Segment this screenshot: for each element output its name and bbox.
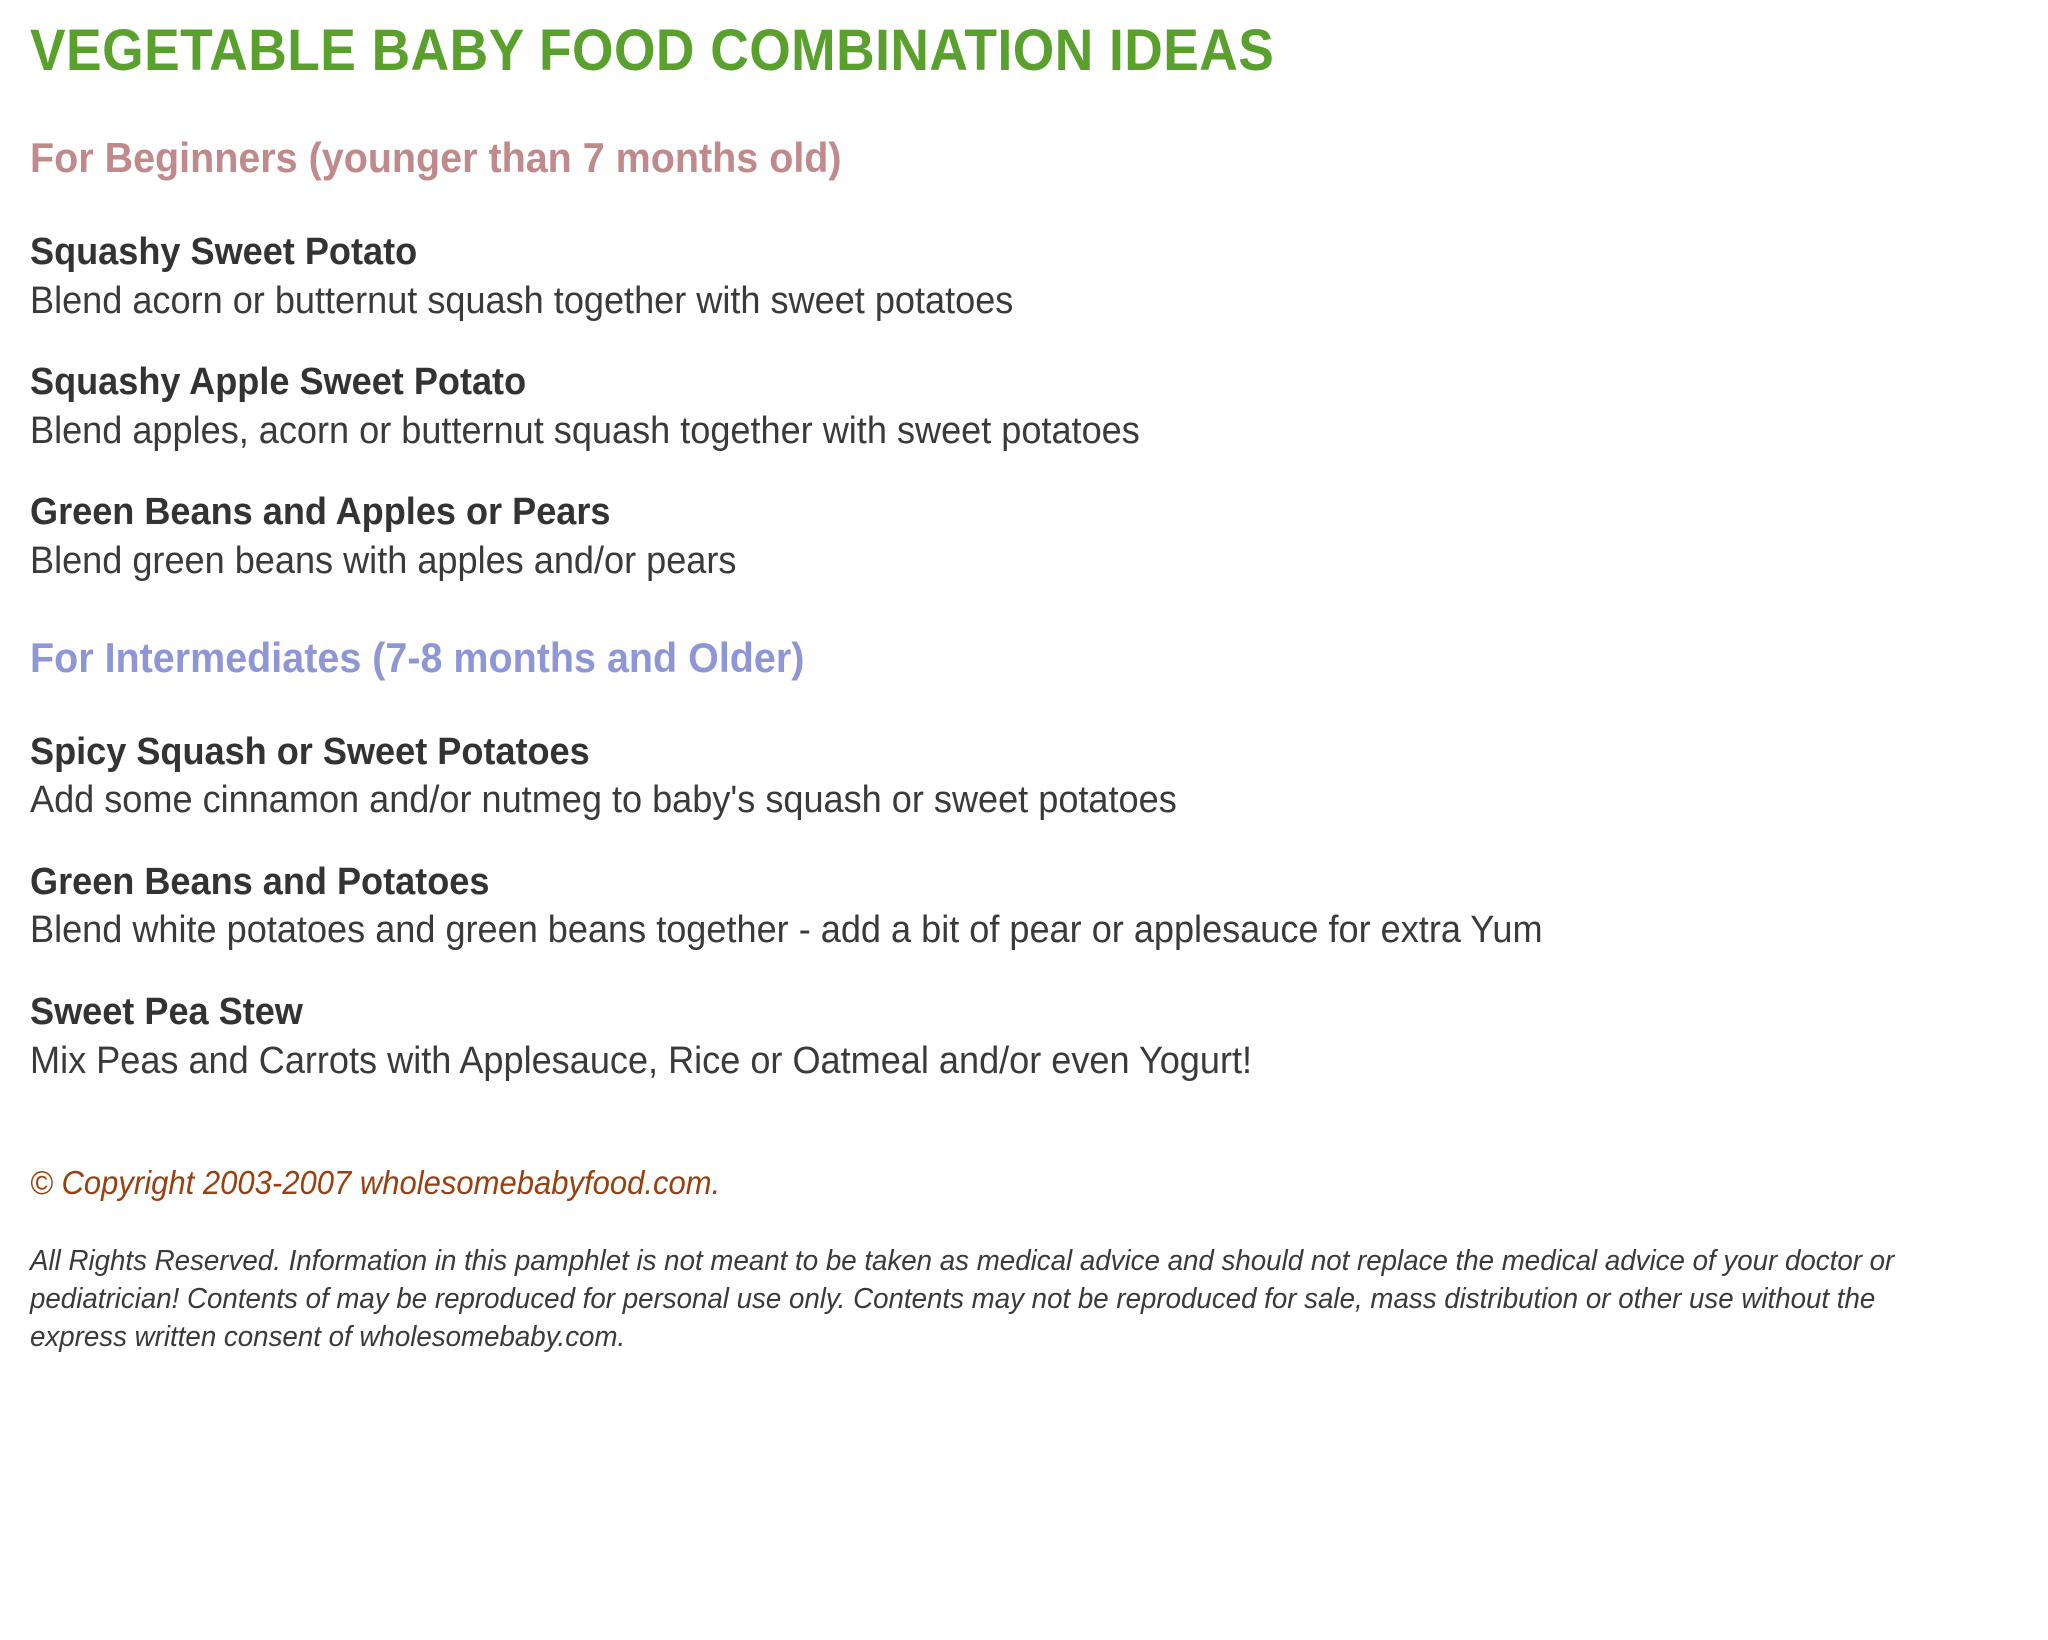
recipe-description: Blend acorn or butternut squash together… (30, 280, 1873, 324)
recipe-item: Spicy Squash or Sweet Potatoes Add some … (30, 679, 2018, 823)
recipe-item: Squashy Apple Sweet Potato Blend apples,… (30, 323, 2018, 453)
recipe-description: Blend apples, acorn or butternut squash … (30, 410, 1873, 454)
recipe-name: Green Beans and Apples or Pears (30, 491, 1919, 534)
recipe-list-beginners: Squashy Sweet Potato Blend acorn or butt… (30, 179, 2018, 584)
recipe-name: Squashy Sweet Potato (30, 231, 1919, 274)
recipe-list-intermediates: Spicy Squash or Sweet Potatoes Add some … (30, 679, 2018, 1084)
footer: © Copyright 2003-2007 wholesomebabyfood.… (30, 1083, 2018, 1356)
copyright-notice: © Copyright 2003-2007 wholesomebabyfood.… (30, 1165, 1899, 1201)
recipe-item: Squashy Sweet Potato Blend acorn or butt… (30, 179, 2018, 323)
recipe-item: Sweet Pea Stew Mix Peas and Carrots with… (30, 953, 2018, 1083)
recipe-name: Squashy Apple Sweet Potato (30, 361, 1919, 404)
page-title: VEGETABLE BABY FOOD COMBINATION IDEAS (30, 0, 1859, 80)
recipe-name: Green Beans and Potatoes (30, 861, 1919, 904)
recipe-description: Mix Peas and Carrots with Applesauce, Ri… (30, 1040, 1873, 1084)
recipe-name: Sweet Pea Stew (30, 991, 1919, 1034)
section-heading-intermediates: For Intermediates (7-8 months and Older) (30, 584, 1899, 679)
section-heading-beginners: For Beginners (younger than 7 months old… (30, 80, 1899, 179)
disclaimer-text: All Rights Reserved. Information in this… (30, 1242, 1929, 1357)
recipe-description: Add some cinnamon and/or nutmeg to baby'… (30, 779, 1873, 823)
recipe-item: Green Beans and Apples or Pears Blend gr… (30, 453, 2018, 583)
recipe-item: Green Beans and Potatoes Blend white pot… (30, 823, 2018, 953)
recipe-name: Spicy Squash or Sweet Potatoes (30, 731, 1919, 774)
recipe-description: Blend white potatoes and green beans tog… (30, 909, 1873, 953)
recipe-description: Blend green beans with apples and/or pea… (30, 540, 1873, 584)
pamphlet-page: VEGETABLE BABY FOOD COMBINATION IDEAS Fo… (0, 0, 2048, 1640)
